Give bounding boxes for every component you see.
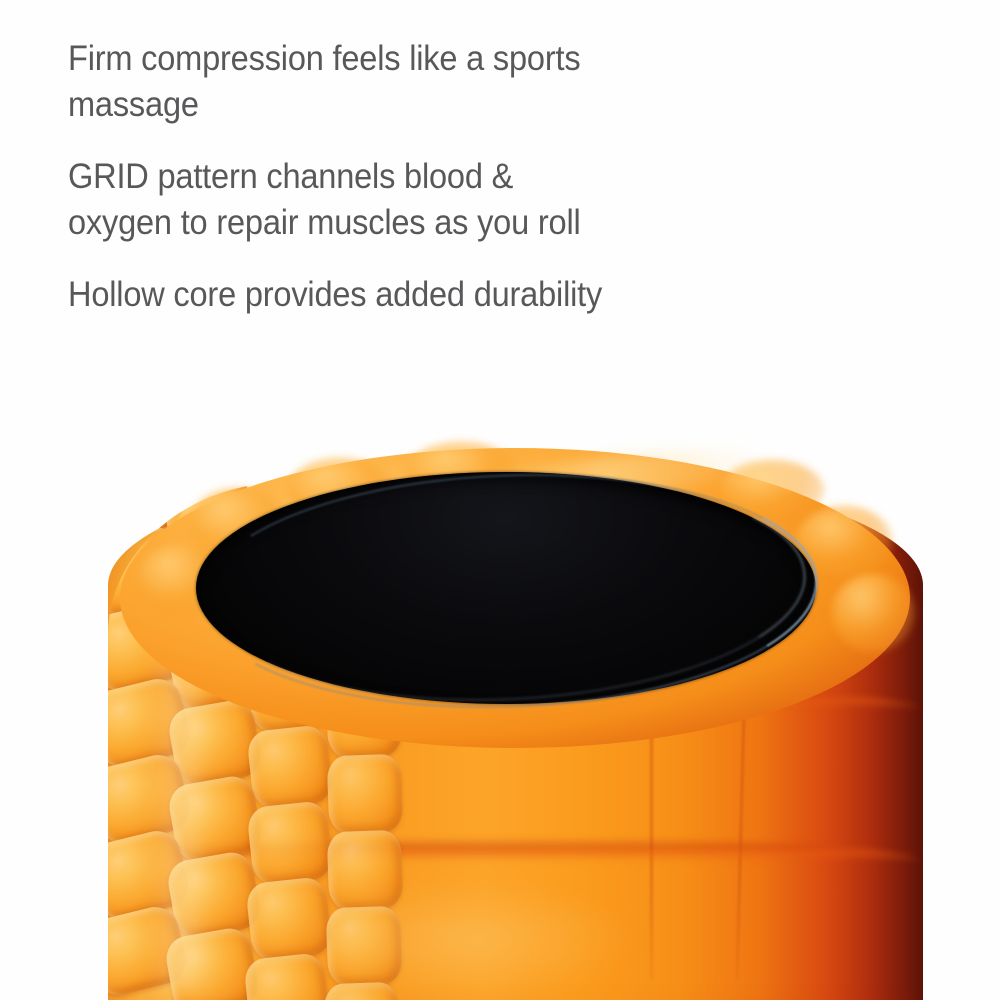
feature-item-firm-compression: Firm compression feels like a sports mas…	[68, 36, 756, 127]
feature-item-hollow-core: Hollow core provides added durability	[68, 272, 756, 318]
grid-nub	[246, 800, 334, 886]
rim-lump	[832, 574, 914, 652]
body-highlight-center	[300, 880, 640, 1000]
product-feature-panel: Firm compression feels like a sports mas…	[0, 0, 1000, 1000]
grid-nub	[327, 754, 404, 835]
feature-item-grid-pattern: GRID pattern channels blood & oxygen to …	[68, 154, 756, 245]
grid-nub	[246, 724, 334, 810]
foam-roller-image	[0, 410, 1000, 1000]
product-photo	[0, 410, 1000, 1000]
feature-list: Firm compression feels like a sports mas…	[68, 36, 808, 318]
